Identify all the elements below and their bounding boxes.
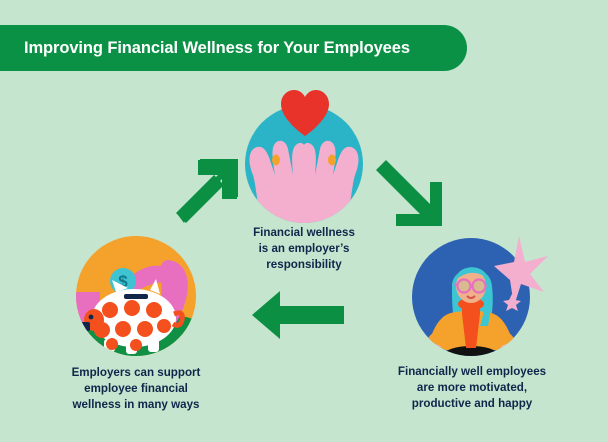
caption-line: Employers can support	[46, 365, 226, 381]
center-caption: Financial wellness is an employer’s resp…	[214, 225, 394, 273]
employee-illustration	[412, 238, 530, 356]
left-caption: Employers can support employee financial…	[46, 365, 226, 413]
arrow-up-right-icon	[176, 157, 240, 225]
node-employer-support: $	[46, 236, 226, 413]
right-caption: Financially well employees are more moti…	[382, 364, 562, 412]
hands-holding-heart-icon	[214, 93, 394, 217]
glasses-icon	[455, 280, 486, 293]
caption-line: Financially well employees	[382, 364, 562, 380]
right-circle-background	[412, 238, 530, 356]
caption-line: responsibility	[214, 257, 394, 273]
caption-line: is an employer’s	[214, 241, 394, 257]
page-title: Improving Financial Wellness for Your Em…	[24, 39, 410, 58]
title-banner: Improving Financial Wellness for Your Em…	[0, 25, 467, 71]
infographic-poster: Improving Financial Wellness for Your Em…	[0, 0, 608, 442]
arrow-left-icon	[250, 289, 346, 341]
node-financial-wellness: Financial wellness is an employer’s resp…	[214, 93, 394, 273]
small-star-icon	[503, 294, 521, 311]
piggy-bank-savings-icon: $	[76, 236, 196, 356]
caption-line: are more motivated,	[382, 380, 562, 396]
happy-employee-icon	[382, 234, 562, 358]
piggy-bank-illustration: $	[76, 236, 196, 356]
caption-line: productive and happy	[382, 396, 562, 412]
caption-line: wellness in many ways	[46, 397, 226, 413]
caption-line: Financial wellness	[214, 225, 394, 241]
caption-line: employee financial	[46, 381, 226, 397]
node-happy-employees: Financially well employees are more moti…	[382, 234, 562, 412]
heart-icon	[279, 89, 331, 137]
arrow-down-right-icon	[374, 158, 442, 228]
